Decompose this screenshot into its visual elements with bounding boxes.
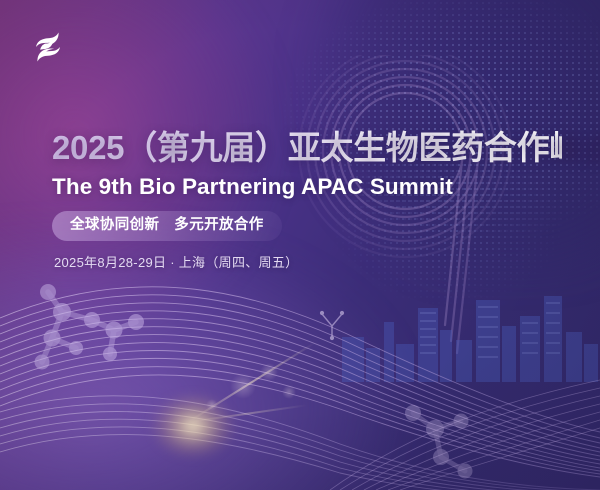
event-datetime-location: 2025年8月28-29日 · 上海（周四、周五） xyxy=(54,254,562,272)
antibody-y-icon xyxy=(315,308,349,342)
page-subtitle-en: The 9th Bio Partnering APAC Summit xyxy=(52,173,562,200)
lens-flare-icon xyxy=(110,355,300,485)
banner-content: 2025（第九届）亚太生物医药合作峰会 The 9th Bio Partneri… xyxy=(52,128,562,272)
page-title: 2025（第九届）亚太生物医药合作峰会 xyxy=(52,128,562,168)
molecule-structure-icon xyxy=(18,278,158,388)
city-skyline-icon xyxy=(340,282,600,382)
event-banner: 2025（第九届）亚太生物医药合作峰会 The 9th Bio Partneri… xyxy=(0,0,600,490)
molecule-structure-secondary-icon xyxy=(395,395,505,490)
swirl-flame-logo-icon xyxy=(28,27,68,67)
tagline-badge: 全球协同创新 多元开放合作 xyxy=(52,211,282,241)
